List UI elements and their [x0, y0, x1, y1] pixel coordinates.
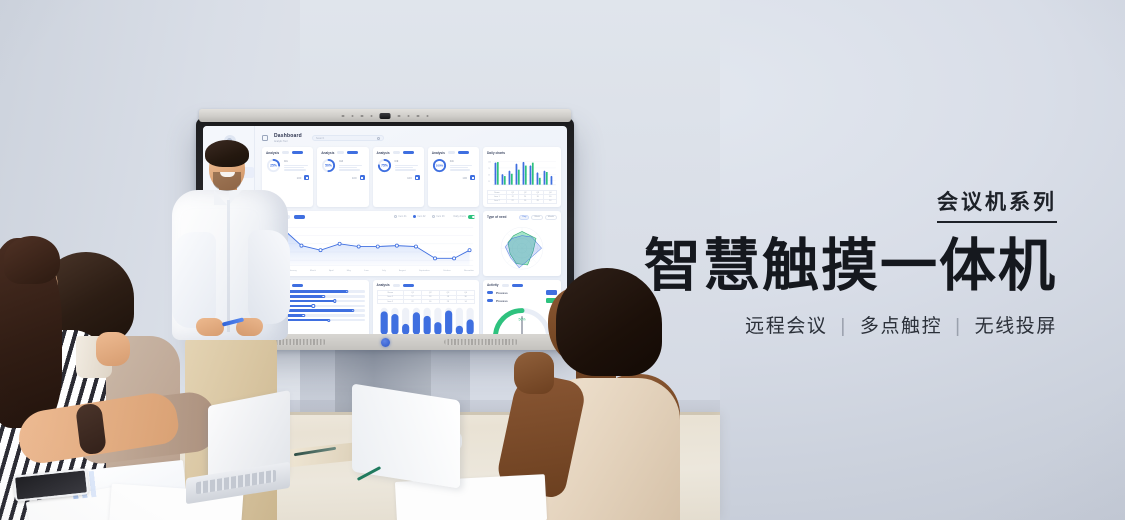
card-title: Analysis [266, 151, 279, 155]
badge-pill [403, 151, 414, 154]
card-code: C3 [395, 159, 420, 163]
radio-icon [432, 215, 435, 218]
table-cell: 16 [519, 199, 532, 203]
table-cell: 28 [531, 199, 544, 203]
gauge-value: 25% [270, 163, 277, 167]
power-button[interactable] [381, 338, 390, 347]
card-body: 50% C2 [321, 158, 364, 173]
x-tick-label: May [347, 270, 351, 272]
eyebrow-text: 会议机系列 [937, 186, 1057, 223]
badge-pill [403, 284, 414, 287]
card-action-button[interactable] [415, 175, 420, 180]
radar-card[interactable]: Type of need Day Week Month [483, 211, 561, 275]
x-tick-label: October [443, 270, 451, 272]
card-code: C2 [339, 159, 364, 163]
search-placeholder: Search [316, 137, 324, 140]
table-cell: 28 [439, 299, 457, 303]
sensor-dot-icon [417, 115, 420, 118]
donut-gauge-icon: 75% [377, 158, 392, 173]
card-header: Analysis [432, 151, 475, 155]
page-subtitle: Analytic Tool [274, 140, 287, 143]
radio-group[interactable]: Item 01 Item 02 Item 03 [394, 215, 445, 218]
segment-option[interactable]: Day [519, 215, 529, 220]
daily-bar-chart: 10075 5025 [487, 158, 557, 188]
radio-option[interactable]: Item 01 [394, 215, 407, 218]
card-title: Activity [487, 283, 499, 287]
sensor-dot-icon [398, 115, 401, 118]
x-tick-label: April [329, 270, 333, 272]
search-icon [377, 137, 380, 140]
segment-option[interactable]: Week [531, 215, 543, 220]
bars-card[interactable]: Analysis Name Q1 Q2 Q3 Q4 [373, 280, 480, 334]
card-title: Type of need [487, 215, 506, 219]
camera-icon [380, 113, 391, 119]
sensor-dot-icon [342, 115, 345, 118]
kpi-and-daily-row: Analysis 25% [262, 147, 561, 207]
bars-mini-table: Name Q1 Q2 Q3 Q4 Item 1 12 24 [377, 290, 476, 304]
radar-chart [487, 223, 557, 272]
gauge-value: 50% [519, 318, 526, 322]
device-top-sensor-bar [199, 109, 571, 122]
feature-item: 多点触控 [860, 316, 942, 337]
dashboard-header: Dashboard Analytic Tool Search [262, 133, 561, 143]
toggle-label: Daily charts [454, 215, 467, 218]
card-header: Analysis [321, 151, 364, 155]
donut-gauge-icon: 100% [432, 158, 447, 173]
badge-pill [292, 151, 303, 154]
card-title: Analysis [432, 151, 445, 155]
card-title: Analysis [377, 283, 390, 287]
activity-row[interactable]: Process [487, 298, 557, 303]
radio-icon-selected [413, 215, 416, 218]
headline: 智慧触摸一体机 [644, 237, 1057, 297]
eyebrow-wrap: 会议机系列 [644, 186, 1057, 223]
svg-text:25: 25 [488, 180, 490, 182]
toggle-switch-icon[interactable] [468, 215, 475, 219]
radio-label: Item 01 [399, 215, 407, 218]
presenter-shirt-placket [227, 200, 230, 332]
sensor-dot-icon [361, 115, 364, 118]
card-header: Daily charts [487, 151, 557, 155]
line-chart-x-labels: January February March April May June Ju… [266, 270, 475, 272]
radio-icon [394, 215, 397, 218]
card-header: Activity [487, 283, 557, 287]
progress-knob[interactable] [302, 314, 305, 317]
svg-text:50: 50 [488, 174, 490, 176]
card-body: 100% C4 [432, 158, 475, 173]
daily-charts-toggle[interactable]: Daily charts [454, 215, 476, 219]
progress-knob[interactable] [345, 290, 348, 293]
radar-column: Type of need Day Week Month [483, 211, 561, 275]
card-text-lines: C2 [339, 159, 364, 170]
badge-pill [292, 284, 303, 287]
card-action-button[interactable] [360, 175, 365, 180]
kpi-card[interactable]: Analysis 50% [317, 147, 368, 207]
vertical-bar-chart [377, 306, 476, 334]
card-code: C4 [450, 159, 475, 163]
table-cell: 14 [544, 199, 557, 203]
progress-knob[interactable] [327, 319, 330, 322]
dashboard-main: Dashboard Analytic Tool Search [255, 126, 567, 334]
daily-charts-card[interactable]: Daily charts [483, 147, 561, 207]
activity-row[interactable]: Process [487, 290, 557, 295]
badge-pill [512, 284, 523, 287]
line-chart: 1008060 40200 [266, 222, 475, 269]
gauge-value: 75% [381, 163, 388, 167]
feature-separator: | [955, 316, 962, 337]
laptop-left [186, 398, 290, 494]
sensor-dot-icon [407, 115, 410, 118]
kpi-card[interactable]: Analysis 100% [428, 147, 479, 207]
card-footer: 100 [432, 175, 475, 180]
x-tick-label: July [382, 270, 386, 272]
tag-pill [393, 284, 400, 287]
sensor-dot-icon [426, 115, 429, 118]
table-cell: 14 [457, 299, 475, 303]
presenter-left-hand [196, 318, 224, 336]
activity-status-badge [546, 290, 557, 295]
x-tick-label: June [364, 270, 369, 272]
link-icon [487, 291, 493, 294]
segmented-control[interactable]: Day Week Month [519, 215, 557, 220]
x-tick-label: September [419, 270, 430, 272]
x-tick-label: November [464, 270, 474, 272]
gauge-value: 100% [435, 163, 443, 167]
tag-pill [393, 151, 400, 154]
card-header: Analysis [377, 283, 476, 287]
radio-label: Item 02 [418, 215, 426, 218]
line-chart-card[interactable]: Analysis Item 01 [262, 211, 479, 275]
card-code: C1 [284, 159, 309, 163]
presenter-hair [205, 140, 249, 167]
card-footer: 100 [321, 175, 364, 180]
card-body: 75% C3 [377, 158, 420, 173]
donut-gauge-icon: 50% [321, 158, 336, 173]
line-and-radar-row: Analysis Item 01 [262, 211, 561, 275]
tag-pill [282, 151, 289, 154]
progress-knob[interactable] [333, 299, 336, 302]
bottom-row: Analysis [262, 280, 561, 334]
sensor-dot-icon [370, 115, 373, 118]
man-left-hand [96, 332, 130, 366]
activity-gauge: 50% 0% 100% Completion rate [487, 305, 557, 334]
kpi-card[interactable]: Analysis 75% [373, 147, 424, 207]
presenter-left-arm [172, 232, 216, 328]
table-row: Item 2 22 16 28 14 [377, 299, 475, 303]
card-header: Analysis [377, 151, 420, 155]
speaker-grille-icon [444, 339, 518, 345]
sensor-row [342, 113, 429, 119]
feature-list: 远程会议 | 多点触控 | 无线投屏 [644, 311, 1057, 338]
card-footer: 100 [266, 175, 309, 180]
woman-left-hair-front [4, 236, 60, 284]
radio-option[interactable]: Item 02 [413, 215, 426, 218]
donut-gauge-icon: 25% [266, 158, 281, 173]
card-value: 100 [407, 176, 412, 180]
marketing-copy: 会议机系列 智慧触摸一体机 远程会议 | 多点触控 | 无线投屏 [644, 186, 1057, 338]
kpi-cards: Analysis 25% [262, 147, 479, 207]
feature-item: 无线投屏 [975, 316, 1057, 337]
hero-banner: Home Dashboard Admin [0, 0, 1125, 520]
card-text-lines: C4 [450, 159, 475, 170]
card-title: Daily charts [487, 151, 505, 155]
tag-pill [502, 284, 509, 287]
line-chart-svg: 1008060 40200 [266, 222, 475, 269]
right-column: Daily charts [483, 147, 561, 207]
card-action-button[interactable] [470, 175, 475, 180]
grid-icon [262, 135, 268, 141]
svg-text:75: 75 [488, 168, 490, 170]
activity-label: Process [496, 299, 508, 303]
table-cell: 16 [421, 299, 439, 303]
table-row: Item 2 22 16 28 14 [488, 199, 557, 203]
card-footer: 100 [377, 175, 420, 180]
card-header: Analysis [266, 151, 309, 155]
progress-knob[interactable] [351, 309, 354, 312]
tag-pill [448, 151, 455, 154]
table-cell: 22 [506, 199, 519, 203]
svg-text:100: 100 [488, 161, 491, 163]
link-icon [487, 299, 493, 302]
search-input[interactable]: Search [312, 135, 384, 141]
badge-pill [347, 151, 358, 154]
feature-item: 远程会议 [745, 316, 827, 337]
card-title: Analysis [377, 151, 390, 155]
card-text-lines: C3 [395, 159, 420, 170]
woman-right-hand [514, 352, 554, 394]
card-action-button[interactable] [304, 175, 309, 180]
x-tick-label: March [310, 270, 316, 272]
card-header: Analysis Item 01 [266, 215, 475, 219]
activity-label: Process [496, 291, 508, 295]
presenter-right-arm [248, 230, 290, 324]
feature-separator: | [840, 316, 847, 337]
page-title: Dashboard [274, 133, 302, 139]
card-title: Analysis [321, 151, 334, 155]
radio-label: Item 03 [437, 215, 445, 218]
table-cell: Item 2 [488, 199, 507, 203]
card-value: 100 [297, 176, 302, 180]
sensor-dot-icon [351, 115, 354, 118]
gauge-value: 50% [325, 163, 332, 167]
card-body: 25% C1 [266, 158, 309, 173]
x-tick-label: August [399, 270, 406, 272]
tag-pill [337, 151, 344, 154]
badge-pill [458, 151, 469, 154]
card-text-lines: C1 [284, 159, 309, 170]
progress-knob[interactable] [321, 295, 324, 298]
card-value: 100 [352, 176, 357, 180]
mini-table: Name Q1 Q2 Q3 Q4 Item 1 12 [487, 190, 557, 204]
progress-knob[interactable] [312, 304, 315, 307]
card-value: 100 [462, 176, 467, 180]
segment-option[interactable]: Month [545, 215, 557, 220]
radio-option[interactable]: Item 03 [432, 215, 445, 218]
table-cell: Item 2 [377, 299, 404, 303]
badge-pill [294, 215, 305, 218]
table-cell: 22 [404, 299, 422, 303]
card-header: Type of need Day Week Month [487, 215, 557, 220]
